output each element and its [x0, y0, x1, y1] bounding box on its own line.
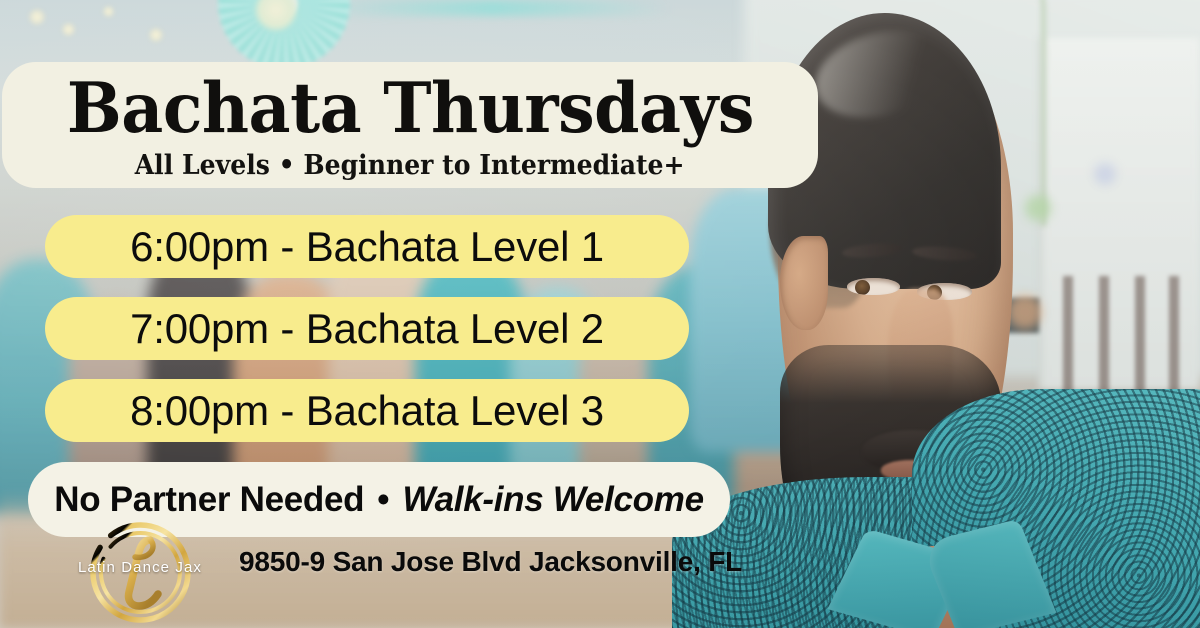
page-subtitle: All Levels • Beginner to Intermediate+ [135, 152, 685, 179]
schedule-item-2: 7:00pm - Bachata Level 2 [45, 297, 689, 360]
schedule-item-1: 6:00pm - Bachata Level 1 [45, 215, 689, 278]
logo-wordmark: Latin Dance Jax [50, 559, 230, 576]
schedule-item-label: 6:00pm - Bachata Level 1 [130, 226, 604, 268]
text-overlay: Bachata Thursdays All Levels • Beginner … [0, 0, 1200, 628]
title-banner: Bachata Thursdays All Levels • Beginner … [2, 62, 818, 188]
schedule-item-label: 8:00pm - Bachata Level 3 [130, 390, 604, 432]
page-title: Bachata Thursdays [67, 74, 754, 143]
note-secondary: Walk-ins Welcome [403, 480, 704, 520]
latin-dance-jax-logo: Latin Dance Jax [84, 516, 197, 628]
note-separator: • [364, 480, 402, 520]
schedule-item-3: 8:00pm - Bachata Level 3 [45, 379, 689, 442]
note-primary: No Partner Needed [54, 480, 364, 520]
schedule-item-label: 7:00pm - Bachata Level 2 [130, 308, 604, 350]
flyer-canvas: Bachata Thursdays All Levels • Beginner … [0, 0, 1200, 628]
venue-address: 9850-9 San Jose Blvd Jacksonville, FL [239, 548, 742, 576]
